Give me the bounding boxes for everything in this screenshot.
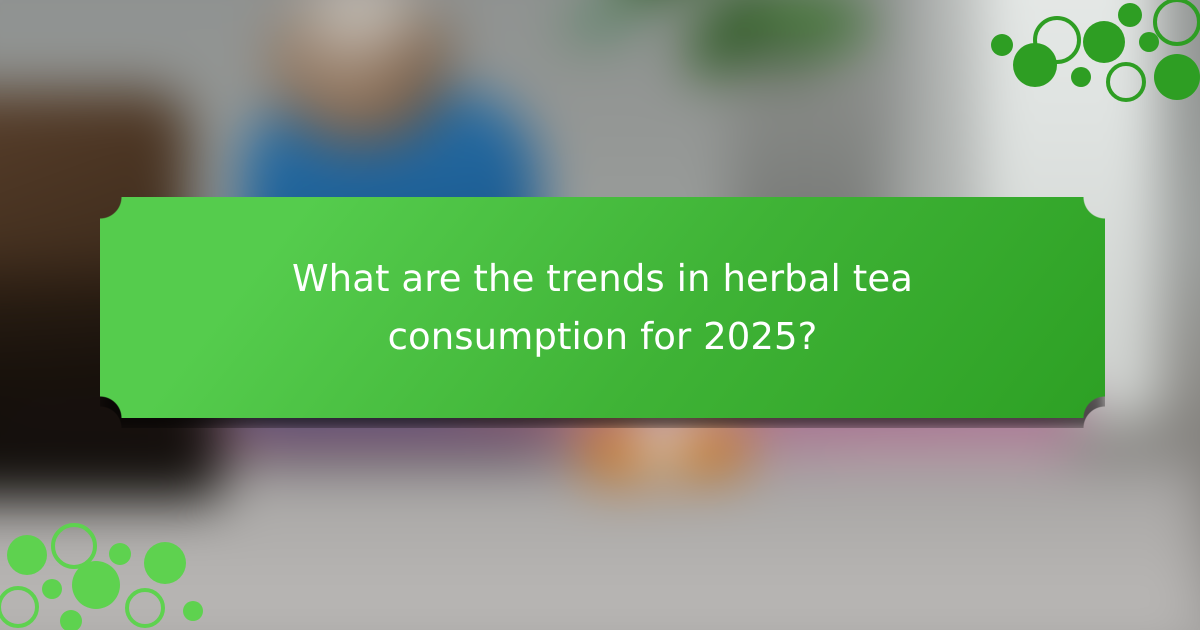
background-block-right: [677, 425, 749, 475]
headline-card-surface: What are the trends in herbal tea consum…: [100, 197, 1105, 418]
background-person-hair: [292, 0, 427, 40]
banner-canvas: What are the trends in herbal tea consum…: [0, 0, 1200, 630]
plant-leaf-icon: [557, 0, 654, 51]
page-title: What are the trends in herbal tea consum…: [170, 250, 1034, 365]
headline-card: What are the trends in herbal tea consum…: [100, 197, 1105, 418]
